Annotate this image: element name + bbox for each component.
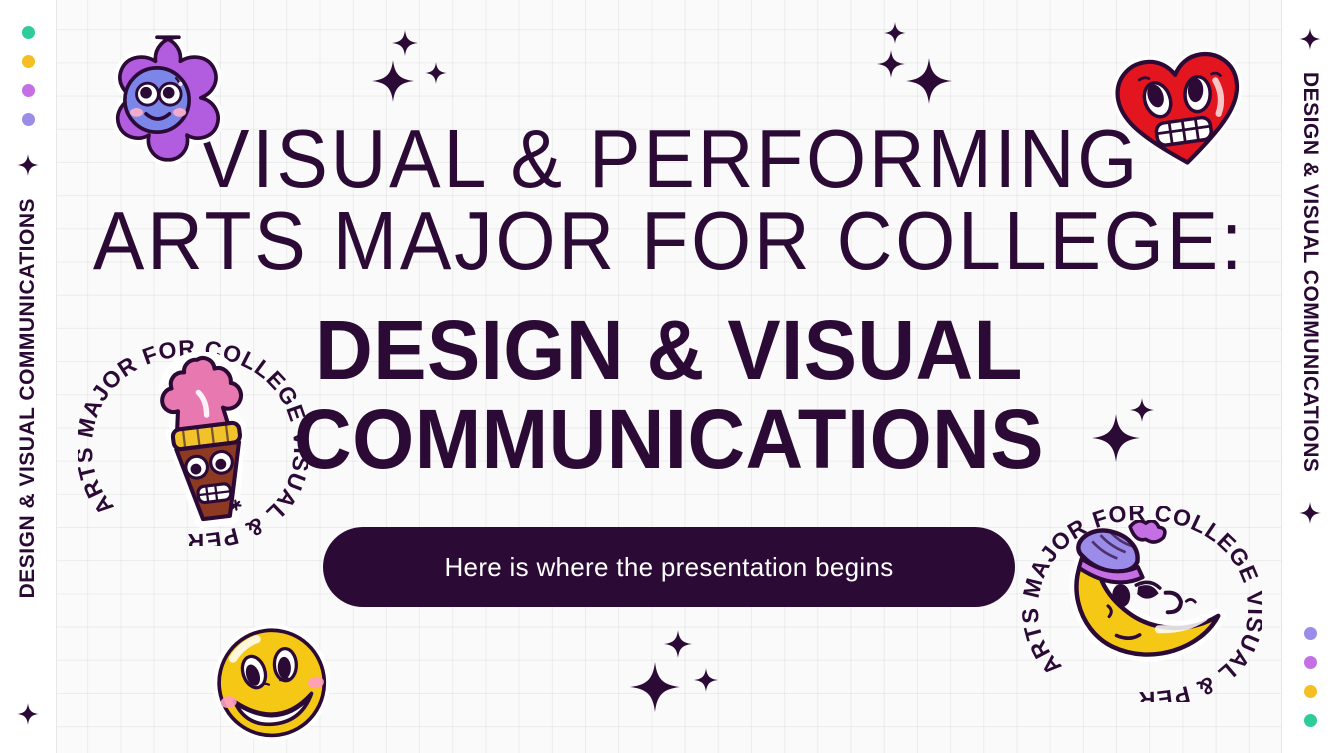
- periwinkle-dot: [22, 113, 35, 126]
- right-dot-stack: [1304, 627, 1317, 727]
- sparkle-icon: [17, 703, 39, 725]
- start-presentation-button[interactable]: Here is where the presentation begins: [323, 527, 1015, 607]
- sparkle-bottom-medium-icon: [664, 630, 692, 658]
- smiling-flower-sticker: [84, 26, 230, 174]
- sparkle-bottom-small-icon: [694, 668, 718, 692]
- left-divider-rule: [56, 0, 57, 753]
- sparkle-icon: [17, 154, 39, 176]
- left-rail-label: DESIGN & VISUAL COMMUNICATIONS: [16, 198, 40, 598]
- green-dot: [22, 26, 35, 39]
- sparkle-top-left-small-icon: [392, 30, 418, 56]
- right-rail-label: DESIGN & VISUAL COMMUNICATIONS: [1298, 72, 1322, 472]
- sparkle-top-left-large-icon: [372, 60, 414, 102]
- sparkle-icon: [1299, 28, 1321, 50]
- sparkle-bottom-large-icon: [630, 662, 680, 712]
- sleepy-banana-moon-sticker: [1052, 520, 1230, 668]
- magenta-dot: [22, 84, 35, 97]
- yellow-dot: [1304, 685, 1317, 698]
- grinning-smiley-sticker: [206, 620, 338, 750]
- sparkle-top-right-tiny-icon: [884, 22, 906, 44]
- green-dot: [1304, 714, 1317, 727]
- ice-cream-cone-sticker: [148, 352, 266, 528]
- left-rail: DESIGN & VISUAL COMMUNICATIONS: [0, 0, 56, 753]
- left-dot-stack: [22, 26, 35, 126]
- periwinkle-dot: [1304, 627, 1317, 640]
- presentation-slide: DESIGN & VISUAL COMMUNICATIONS DESIGN & …: [0, 0, 1338, 753]
- sparkle-top-left-tiny-icon: [425, 62, 447, 84]
- right-rail: DESIGN & VISUAL COMMUNICATIONS: [1282, 0, 1338, 753]
- sparkle-icon: [1299, 502, 1321, 524]
- sparkle-top-right-large-icon: [906, 58, 952, 104]
- sparkle-top-right-medium-icon: [877, 50, 905, 78]
- magenta-dot: [1304, 656, 1317, 669]
- sparkle-mid-right-small-icon: [1130, 398, 1154, 422]
- grinning-heart-sticker: [1110, 48, 1250, 170]
- yellow-dot: [22, 55, 35, 68]
